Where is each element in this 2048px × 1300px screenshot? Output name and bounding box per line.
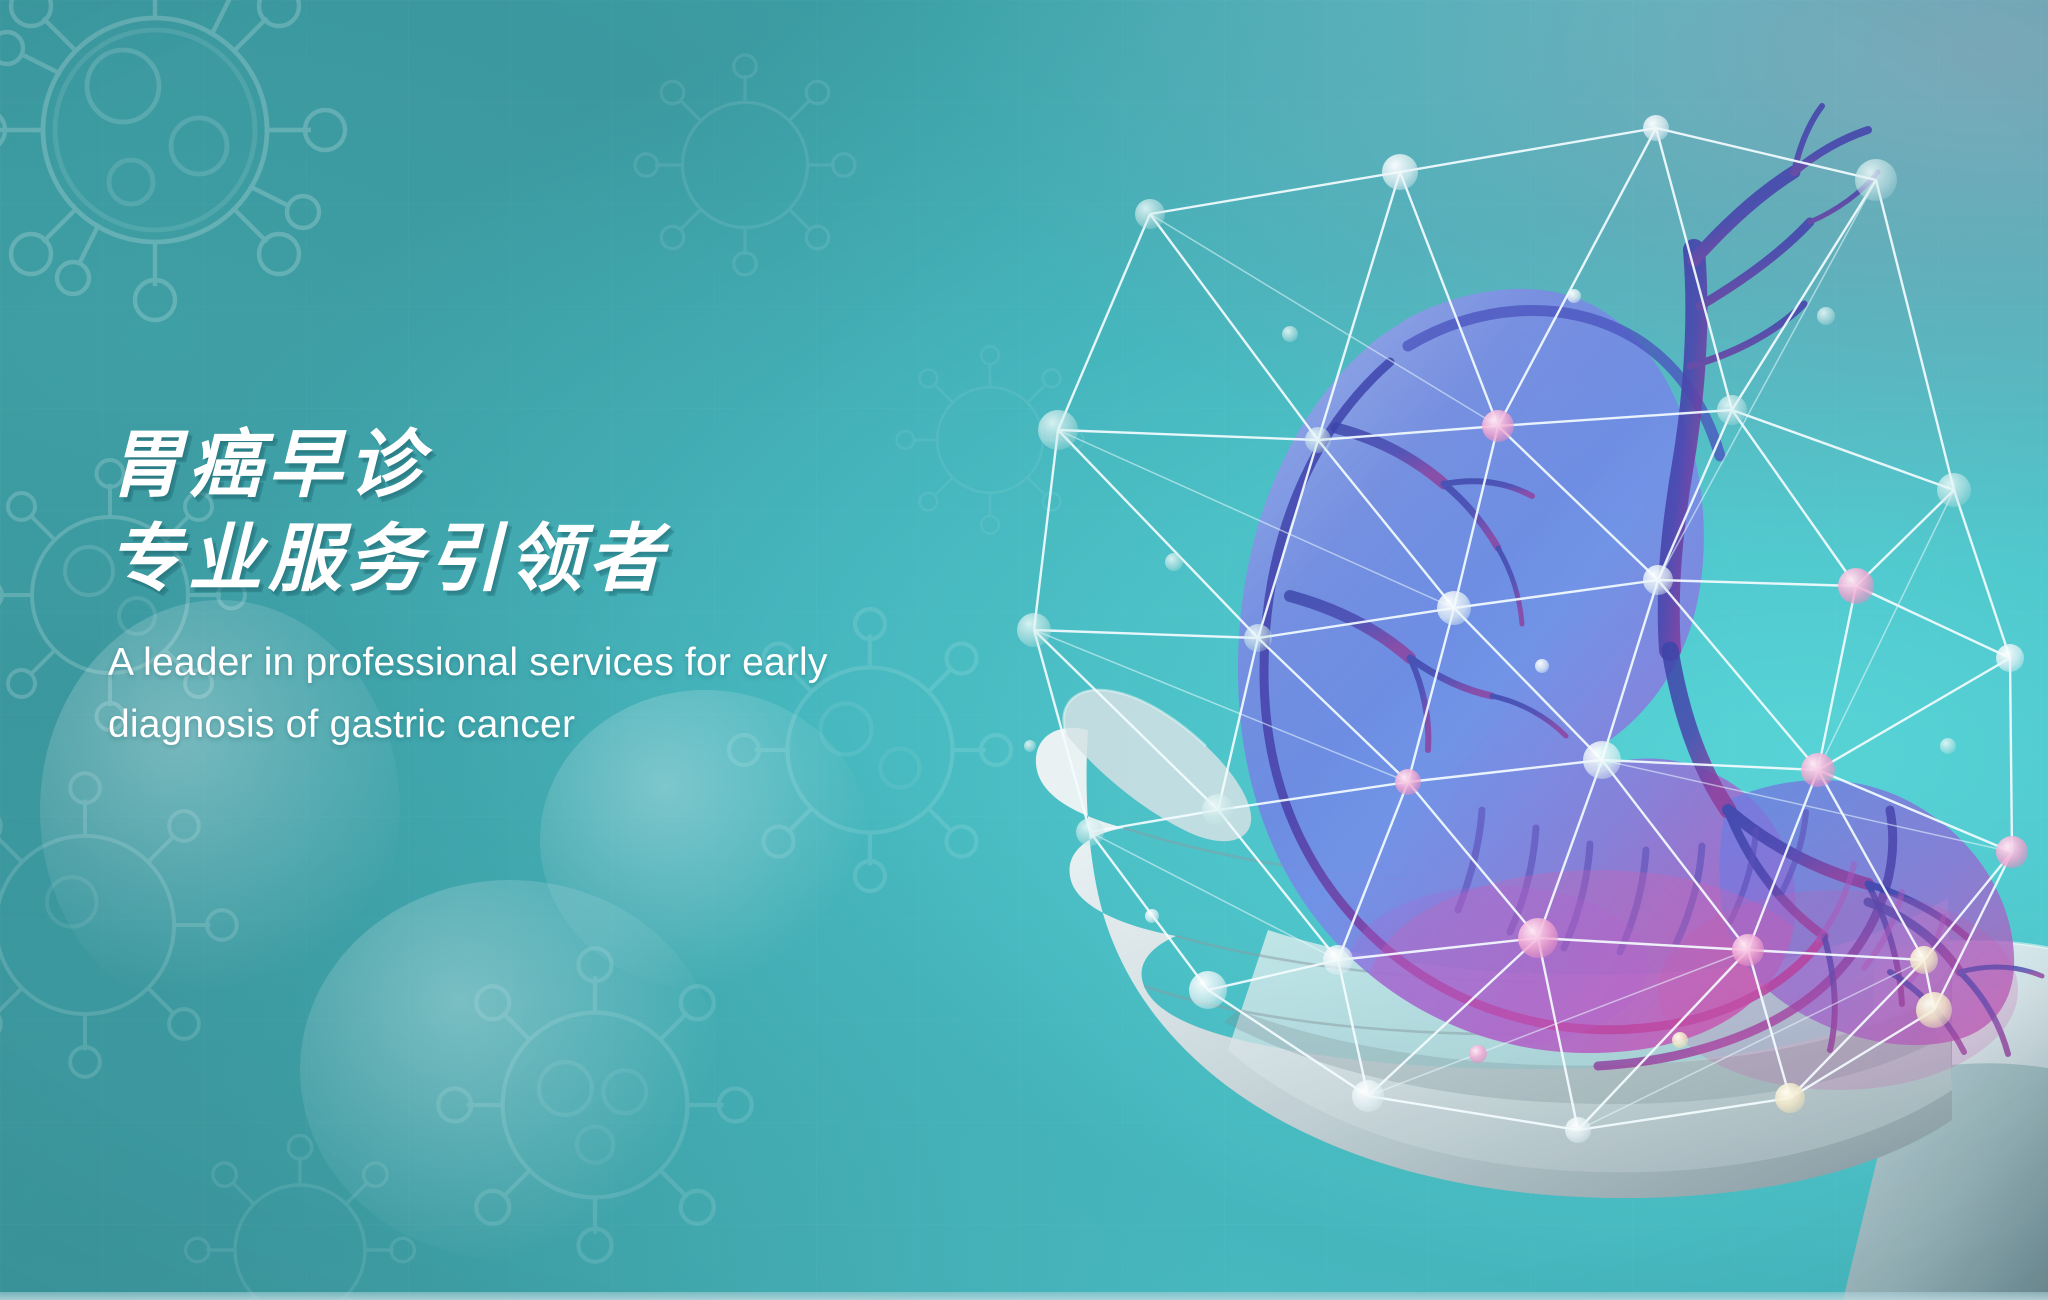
headline-line-2: 专业服务引领者: [108, 512, 1128, 606]
subtitle-line-2: diagnosis of gastric cancer: [108, 694, 908, 756]
copy-block: 胃癌早诊 专业服务引领者 A leader in professional se…: [108, 418, 1128, 756]
bottom-edge-strip: [0, 1292, 2048, 1300]
banner-root: 胃癌早诊 专业服务引领者 A leader in professional se…: [0, 0, 2048, 1300]
headline-line-1: 胃癌早诊: [108, 418, 1128, 512]
subtitle-block: A leader in professional services for ea…: [108, 632, 908, 756]
subtitle-line-1: A leader in professional services for ea…: [108, 632, 908, 694]
